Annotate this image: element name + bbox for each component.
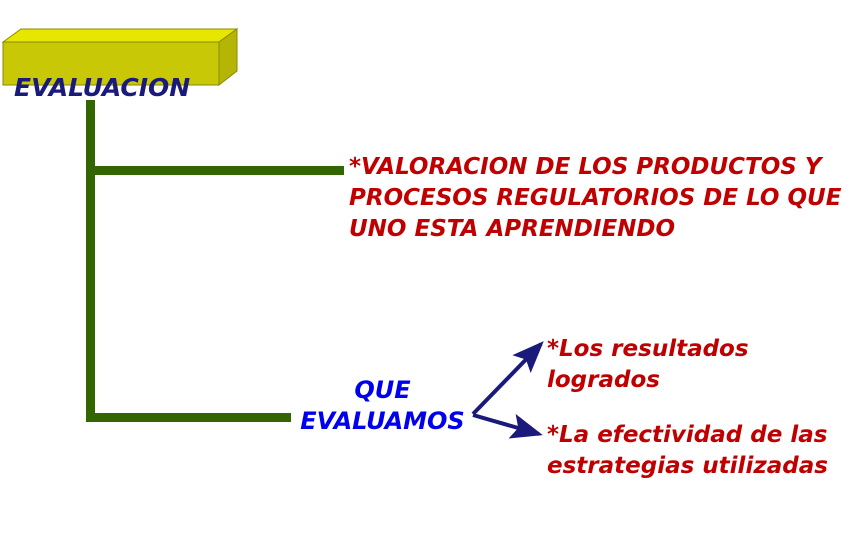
connector-branch-valoracion: [86, 166, 344, 175]
title-box: EVALUACION: [0, 28, 238, 90]
text-valoracion: *VALORACION DE LOS PRODUCTOS Y PROCESOS …: [349, 152, 849, 245]
diagram-canvas: EVALUACION *VALORACION DE LOS PRODUCTOS …: [0, 0, 852, 542]
text-que-evaluamos: QUE EVALUAMOS: [290, 375, 475, 437]
text-la-efectividad-estrategias: *La efectividad de las estrategias utili…: [547, 420, 837, 482]
arrow-to-efectividad: [473, 415, 539, 434]
text-los-resultados-logrados: *Los resultados logrados: [547, 334, 837, 396]
arrow-to-resultados: [473, 344, 541, 414]
connector-branch-que-evaluamos: [86, 413, 291, 422]
title-box-top-face: [3, 29, 237, 42]
connector-vertical-stem: [86, 100, 95, 422]
title-box-label: EVALUACION: [14, 75, 214, 100]
